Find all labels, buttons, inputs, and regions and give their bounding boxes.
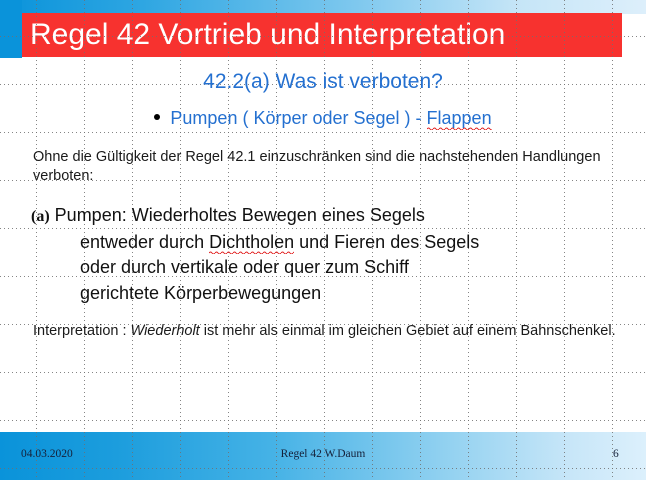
interpretation-rest: ist mehr als einmal im gleichen Gebiet a…	[200, 323, 616, 339]
misspelled-word-flappen: Flappen	[427, 108, 492, 130]
main-paragraph-line2: entweder durch Dichtholen und Fieren des…	[31, 230, 639, 256]
list-label-a: (a)	[31, 208, 50, 225]
misspelled-word-dichtholen: Dichtholen	[209, 232, 294, 254]
interpretation-paragraph: Interpretation : Wiederholt ist mehr als…	[33, 322, 618, 341]
footer-page-number: 6	[613, 448, 619, 460]
line2-before: entweder durch	[80, 232, 209, 252]
bullet-dot-icon	[154, 114, 160, 120]
footer-center-label: Regel 42 W.Daum	[0, 448, 646, 460]
slide-subtitle: 42.2(a) Was ist verboten?	[0, 70, 646, 94]
slide-canvas: Regel 42 Vortrieb und Interpretation 42.…	[0, 0, 646, 480]
main-paragraph-line3: oder durch vertikale oder quer zum Schif…	[31, 255, 639, 281]
bullet-text: Pumpen ( Körper oder Segel ) -	[170, 108, 426, 128]
intro-paragraph: Ohne die Gültigkeit der Regel 42.1 einzu…	[33, 148, 613, 186]
line2-after: und Fieren des Segels	[294, 232, 479, 252]
interpretation-label: Interpretation :	[33, 323, 131, 339]
main-paragraph-line4: gerichtete Körperbewegungen	[31, 281, 639, 307]
slide-content: 42.2(a) Was ist verboten? Pumpen ( Körpe…	[0, 0, 646, 480]
main-paragraph-line1: Pumpen: Wiederholtes Bewegen eines Segel…	[55, 205, 425, 225]
bullet-list-item: Pumpen ( Körper oder Segel ) - Flappen	[0, 108, 646, 129]
main-paragraph: (a) Pumpen: Wiederholtes Bewegen eines S…	[31, 203, 639, 306]
interpretation-italic-word: Wiederholt	[131, 323, 200, 339]
